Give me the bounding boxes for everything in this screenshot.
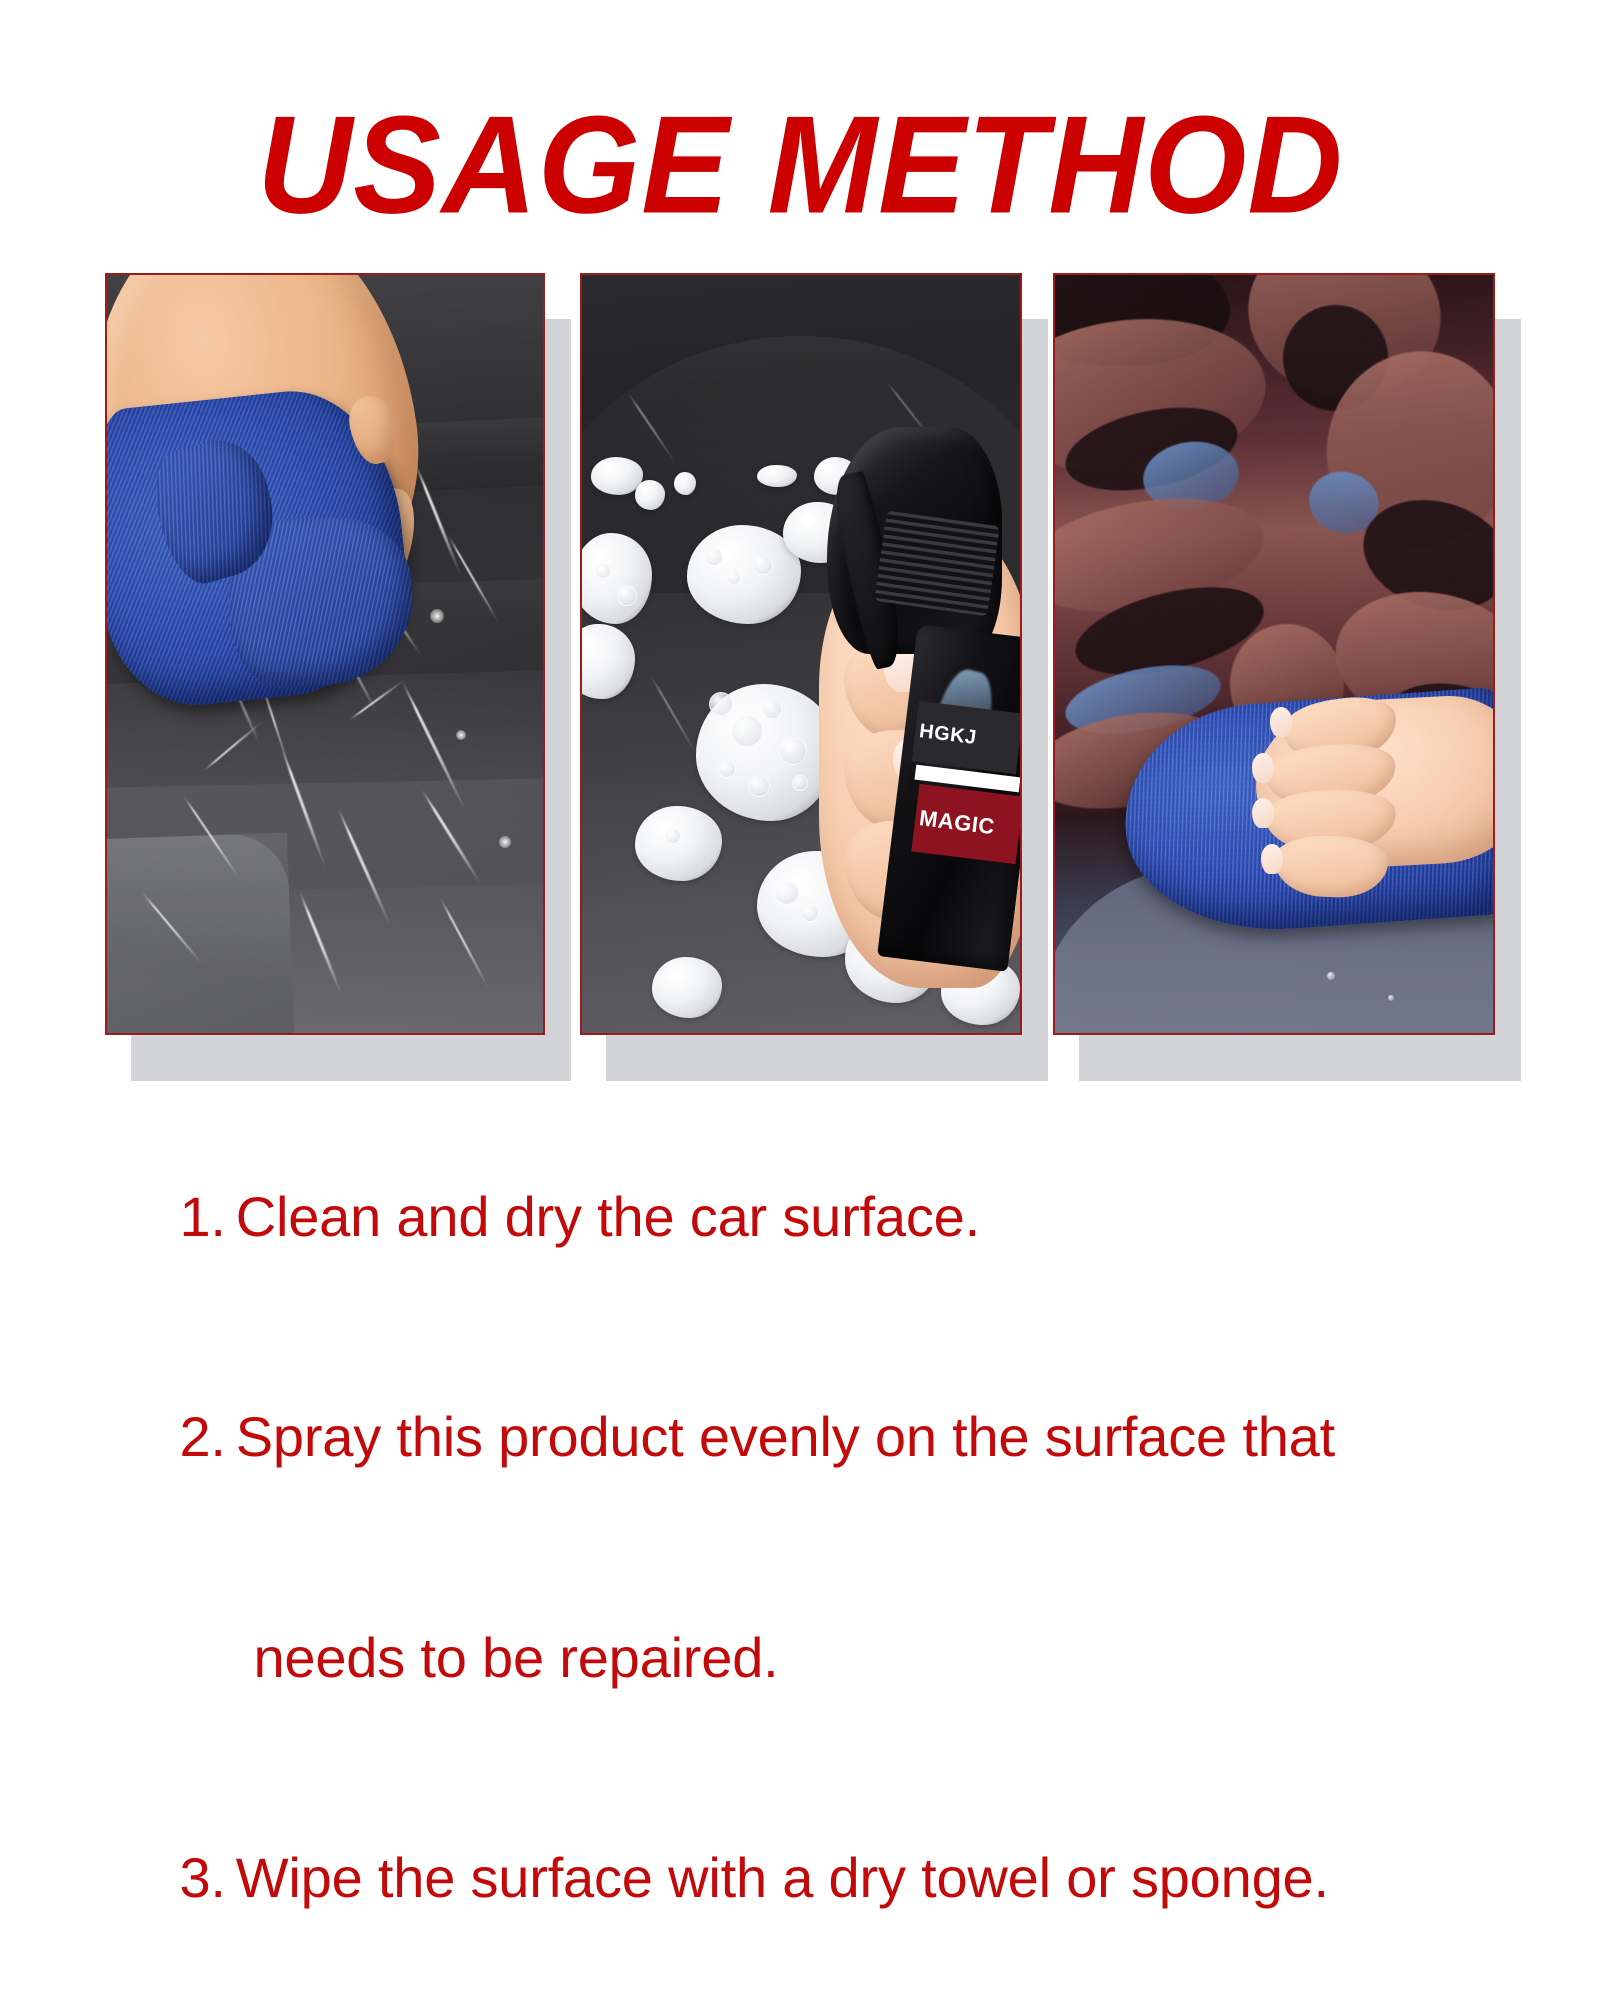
step-3-text: Wipe the surface with a dry towel or spo… [236,1846,1329,1909]
scratch-spot [456,730,466,740]
foam-patch [674,472,696,495]
foam-bubble [617,586,637,606]
instruction-step-2: 2.Spray this product evenly on the surfa… [118,1328,1538,1546]
panel-2-photo: HGKJ MAGIC [580,273,1022,1035]
foam-patch [635,480,666,510]
foam-patch [635,806,723,882]
bottle-product-label: MAGIC [911,784,1020,865]
page-title-container: USAGE METHOD [0,96,1600,220]
step-3-number: 3. [179,1846,225,1909]
foam-bubble [801,904,819,922]
water-droplet [1388,995,1394,1001]
step-2-text: Spray this product evenly on the surface… [236,1405,1335,1468]
step-1-number: 1. [179,1185,225,1248]
foam-bubble [775,881,799,905]
windshield-edge [107,832,294,1033]
foam-bubble [709,692,733,716]
photo-panel-row: HGKJ MAGIC [0,273,1600,1083]
foam-patch [652,957,722,1018]
foam-bubble [727,571,741,585]
scratch-spot [430,609,444,623]
fingernail [1252,798,1274,828]
step-2-number: 2. [179,1405,225,1468]
foam-bubble [705,548,723,566]
panel-spray-product: HGKJ MAGIC [580,273,1048,1083]
fingernail [1252,753,1274,783]
panel-wipe-surface [1053,273,1521,1083]
foam-bubble [762,699,782,719]
bottle-brand-text: HGKJ [918,720,978,750]
step-1-text: Clean and dry the car surface. [236,1185,980,1248]
panel-clean-and-dry [105,273,571,1083]
fingernail [1270,707,1292,737]
fingernail [1261,844,1283,874]
instruction-step-2-continued: needs to be repaired. [118,1549,1538,1767]
panel-3-photo [1053,273,1495,1035]
bottle-brand-label: HGKJ [912,701,1020,774]
instruction-step-1: 1.Clean and dry the car surface. [118,1108,1538,1326]
spray-bottle-collar [874,510,999,616]
foam-patch [757,465,796,488]
panel-1-photo [105,273,545,1035]
water-droplet [1327,972,1335,980]
foam-bubble [718,760,736,778]
step-2-text-line2: needs to be repaired. [253,1626,778,1689]
page-title: USAGE METHOD [257,96,1343,235]
instructions-list: 1.Clean and dry the car surface. 2.Spray… [118,1108,1538,1990]
foam-bubble [731,715,763,747]
instruction-step-3: 3.Wipe the surface with a dry towel or s… [118,1769,1538,1987]
bottle-product-text: MAGIC [918,806,996,841]
